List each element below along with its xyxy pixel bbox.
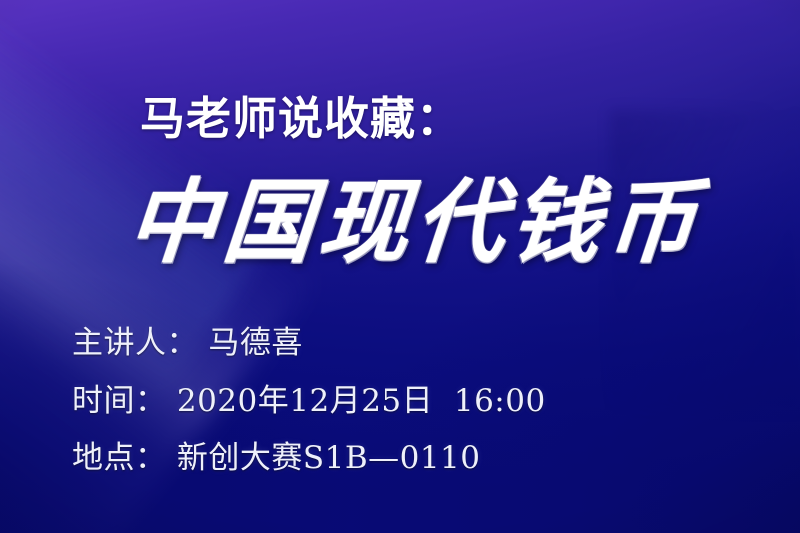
detail-line-speaker: 主讲人： 马德喜 [72,326,546,362]
slide-details-block: 主讲人： 马德喜 时间： 2020年12月25日 16:00 地点： 新创大赛S… [72,326,546,477]
slide-headline: 马老师说收藏： [140,96,462,141]
presentation-slide: 马老师说收藏： 中国现代钱币 主讲人： 马德喜 时间： 2020年12月25日 … [0,0,800,533]
slide-main-title: 中国现代钱币 [124,175,706,271]
detail-line-location: 地点： 新创大赛S1B—0110 [72,441,546,477]
detail-line-time: 时间： 2020年12月25日 16:00 [72,384,546,420]
slide-content: 马老师说收藏： 中国现代钱币 主讲人： 马德喜 时间： 2020年12月25日 … [0,0,800,533]
